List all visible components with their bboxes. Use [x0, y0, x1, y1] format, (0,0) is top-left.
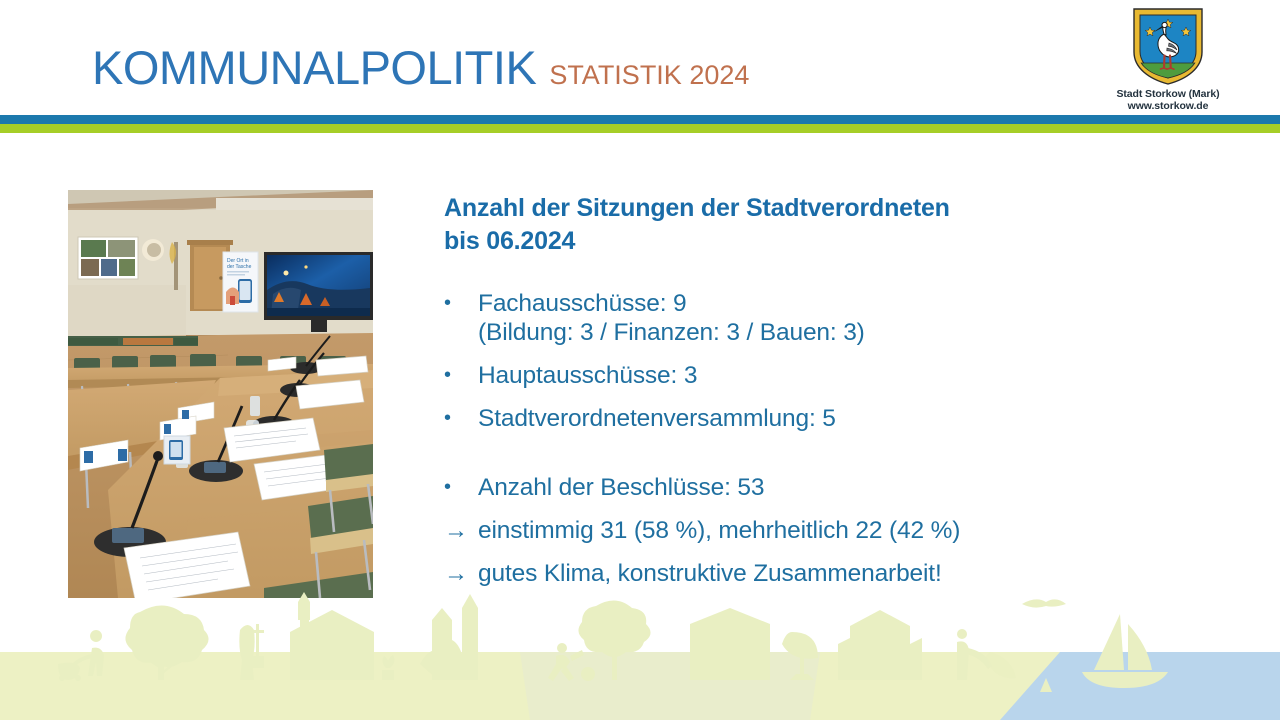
coat-of-arms-icon — [1131, 6, 1205, 86]
main-content: Anzahl der Sitzungen der Stadtverordnete… — [444, 192, 1244, 602]
list-item-label: Anzahl der Beschlüsse: 53 — [478, 473, 764, 503]
list-spacer — [444, 447, 1244, 473]
logo-city-name: Stadt Storkow (Mark) — [1108, 88, 1228, 100]
bullet-dot-icon: • — [444, 404, 478, 433]
slide-root: KOMMUNALPOLITIK STATISTIK 2024 — [0, 0, 1280, 720]
bullet-dot-icon: • — [444, 473, 478, 502]
logo-website-url: www.storkow.de — [1108, 100, 1228, 112]
page-title: KOMMUNALPOLITIK — [92, 44, 536, 91]
list-item-label: Stadtverordnetenversammlung: 5 — [478, 404, 836, 434]
list-item: → gutes Klima, konstruktive Zusammenarbe… — [444, 559, 1244, 589]
svg-text:der Tasche: der Tasche — [227, 264, 252, 270]
header-divider-green — [0, 124, 1280, 133]
bullet-dot-icon: • — [444, 361, 478, 390]
bullet-list: • Fachausschüsse: 9 (Bildung: 3 / Finanz… — [444, 289, 1244, 589]
slide-title-block: KOMMUNALPOLITIK STATISTIK 2024 — [92, 44, 749, 91]
list-item: • Fachausschüsse: 9 (Bildung: 3 / Finanz… — [444, 289, 1244, 349]
city-logo: Stadt Storkow (Mark) www.storkow.de — [1108, 6, 1228, 112]
list-item: • Anzahl der Beschlüsse: 53 — [444, 473, 1244, 503]
council-chamber-photo: Der Ort in der Tasche — [68, 190, 373, 598]
slide-header: KOMMUNALPOLITIK STATISTIK 2024 — [0, 0, 1280, 114]
header-divider-blue — [0, 115, 1280, 124]
list-item-label: Hauptausschüsse: 3 — [478, 361, 697, 391]
footer-decoration — [0, 590, 1280, 720]
list-item: → einstimmig 31 (58 %), mehrheitlich 22 … — [444, 516, 1244, 546]
list-item: • Stadtverordnetenversammlung: 5 — [444, 404, 1244, 434]
list-item-label: Fachausschüsse: 9 (Bildung: 3 / Finanzen… — [478, 289, 865, 349]
list-item-label: gutes Klima, konstruktive Zusammenarbeit… — [478, 559, 942, 589]
list-item-label: einstimmig 31 (58 %), mehrheitlich 22 (4… — [478, 516, 960, 546]
list-item: • Hauptausschüsse: 3 — [444, 361, 1244, 391]
content-heading: Anzahl der Sitzungen der Stadtverordnete… — [444, 192, 1244, 259]
bullet-dot-icon: • — [444, 289, 478, 318]
arrow-right-icon: → — [444, 516, 478, 545]
page-subtitle: STATISTIK 2024 — [549, 62, 749, 89]
arrow-right-icon: → — [444, 559, 478, 588]
